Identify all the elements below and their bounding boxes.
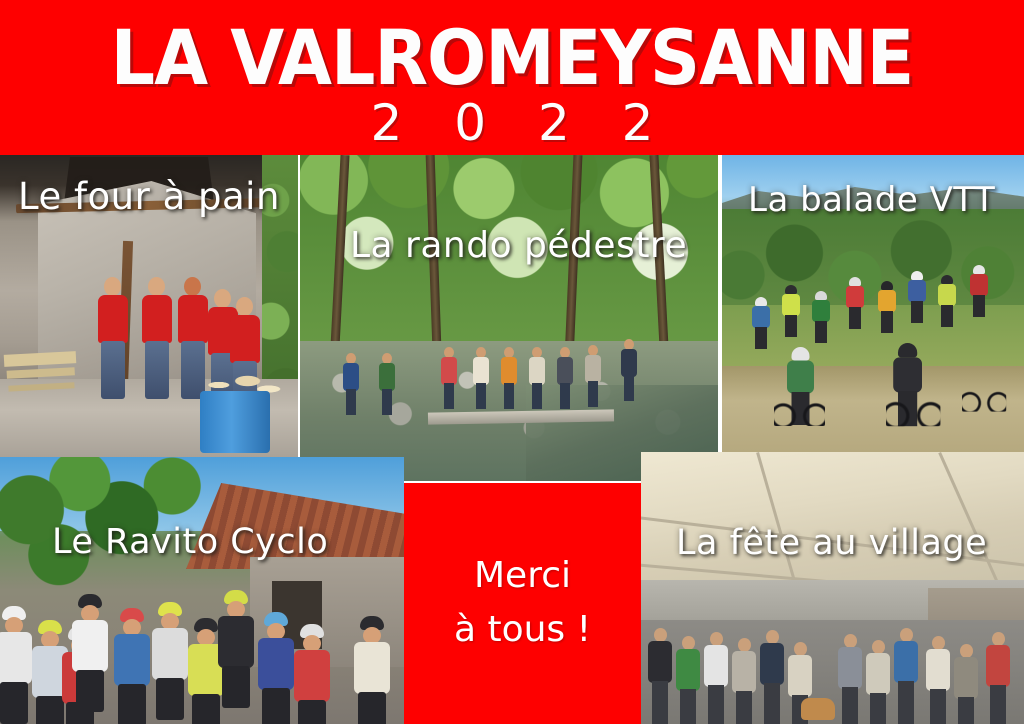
cyclist xyxy=(780,285,802,339)
cyclist xyxy=(844,277,866,331)
person xyxy=(893,628,919,724)
poster: LA VALROMEYSANNE 2 0 2 2 Le four à pain xyxy=(0,0,1024,724)
hiker xyxy=(584,345,602,407)
person xyxy=(953,644,979,724)
hiker xyxy=(472,347,490,409)
hiker xyxy=(342,353,360,415)
person xyxy=(865,640,891,724)
person xyxy=(96,277,130,405)
cyclist xyxy=(750,297,772,351)
hiker xyxy=(528,347,546,409)
cyclist xyxy=(352,616,392,724)
photo-ravito-cyclo xyxy=(0,457,404,724)
caption-balade-vtt: La balade VTT xyxy=(748,180,995,220)
photo-fete-au-village xyxy=(641,452,1024,724)
caption-fete-au-village: La fête au village xyxy=(676,523,987,563)
caption-four-a-pain: Le four à pain xyxy=(18,175,280,218)
photo-rando-pedestre xyxy=(300,155,718,481)
cyclist xyxy=(216,590,256,724)
cyclist-crowd xyxy=(0,574,404,724)
merci-line-1: Merci xyxy=(404,555,641,596)
cyclist-group xyxy=(740,251,1024,431)
cyclist xyxy=(968,265,990,319)
person xyxy=(837,634,863,724)
cyclist xyxy=(906,271,928,325)
person xyxy=(759,630,785,724)
person xyxy=(647,628,673,724)
page-title: LA VALROMEYSANNE xyxy=(0,18,1024,98)
hiker xyxy=(500,347,518,409)
blue-barrel xyxy=(200,391,270,453)
cyclist xyxy=(150,602,190,724)
cyclist xyxy=(876,281,898,335)
person xyxy=(703,632,729,724)
hiker xyxy=(440,347,458,409)
poster-year: 2 0 2 2 xyxy=(0,96,1024,150)
caption-ravito-cyclo: Le Ravito Cyclo xyxy=(52,522,328,562)
person xyxy=(675,636,701,724)
caption-rando-pedestre: La rando pédestre xyxy=(350,225,687,266)
bicycle xyxy=(774,393,825,426)
person xyxy=(985,632,1011,724)
person xyxy=(925,636,951,724)
cyclist xyxy=(256,612,296,724)
person xyxy=(731,638,757,724)
cyclist xyxy=(112,608,152,724)
cyclist xyxy=(936,275,958,329)
hiker xyxy=(556,347,574,409)
merci-box: Merci à tous ! xyxy=(404,483,641,724)
hiker xyxy=(620,339,638,401)
bicycle xyxy=(962,383,1006,412)
bicycle xyxy=(886,391,940,426)
cyclist xyxy=(810,291,832,345)
dog xyxy=(801,698,835,720)
hiker xyxy=(378,353,396,415)
person xyxy=(140,277,174,405)
cyclist xyxy=(0,606,34,724)
merci-line-2: à tous ! xyxy=(404,609,641,650)
cyclist xyxy=(70,594,110,724)
cyclist xyxy=(292,624,332,724)
